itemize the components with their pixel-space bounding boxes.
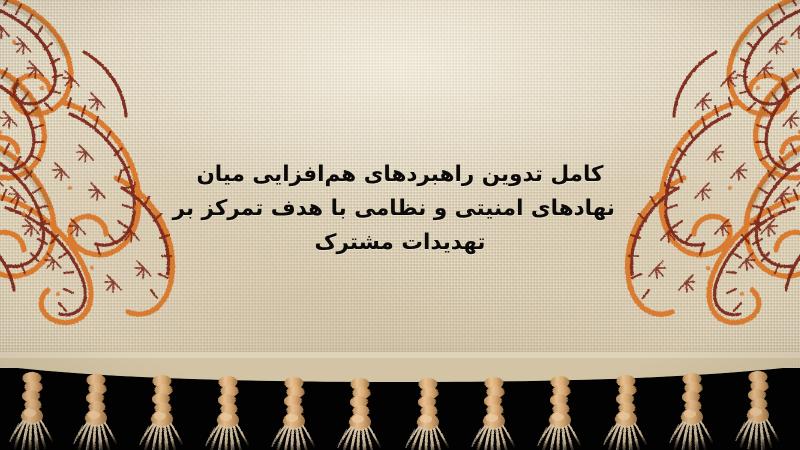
caption-line-2: نهادهای امنیتی و نظامی با هدف تمرکز بر — [185, 192, 615, 226]
caption-line-3: تهدیدات مشترک — [185, 226, 615, 260]
caption-line-1: کامل تدوین راهبردهای هم‌افزایی میان — [185, 158, 615, 192]
caption-block: کامل تدوین راهبردهای هم‌افزایی میان نهاد… — [185, 158, 615, 260]
textile-banner: کامل تدوین راهبردهای هم‌افزایی میان نهاد… — [0, 0, 800, 450]
